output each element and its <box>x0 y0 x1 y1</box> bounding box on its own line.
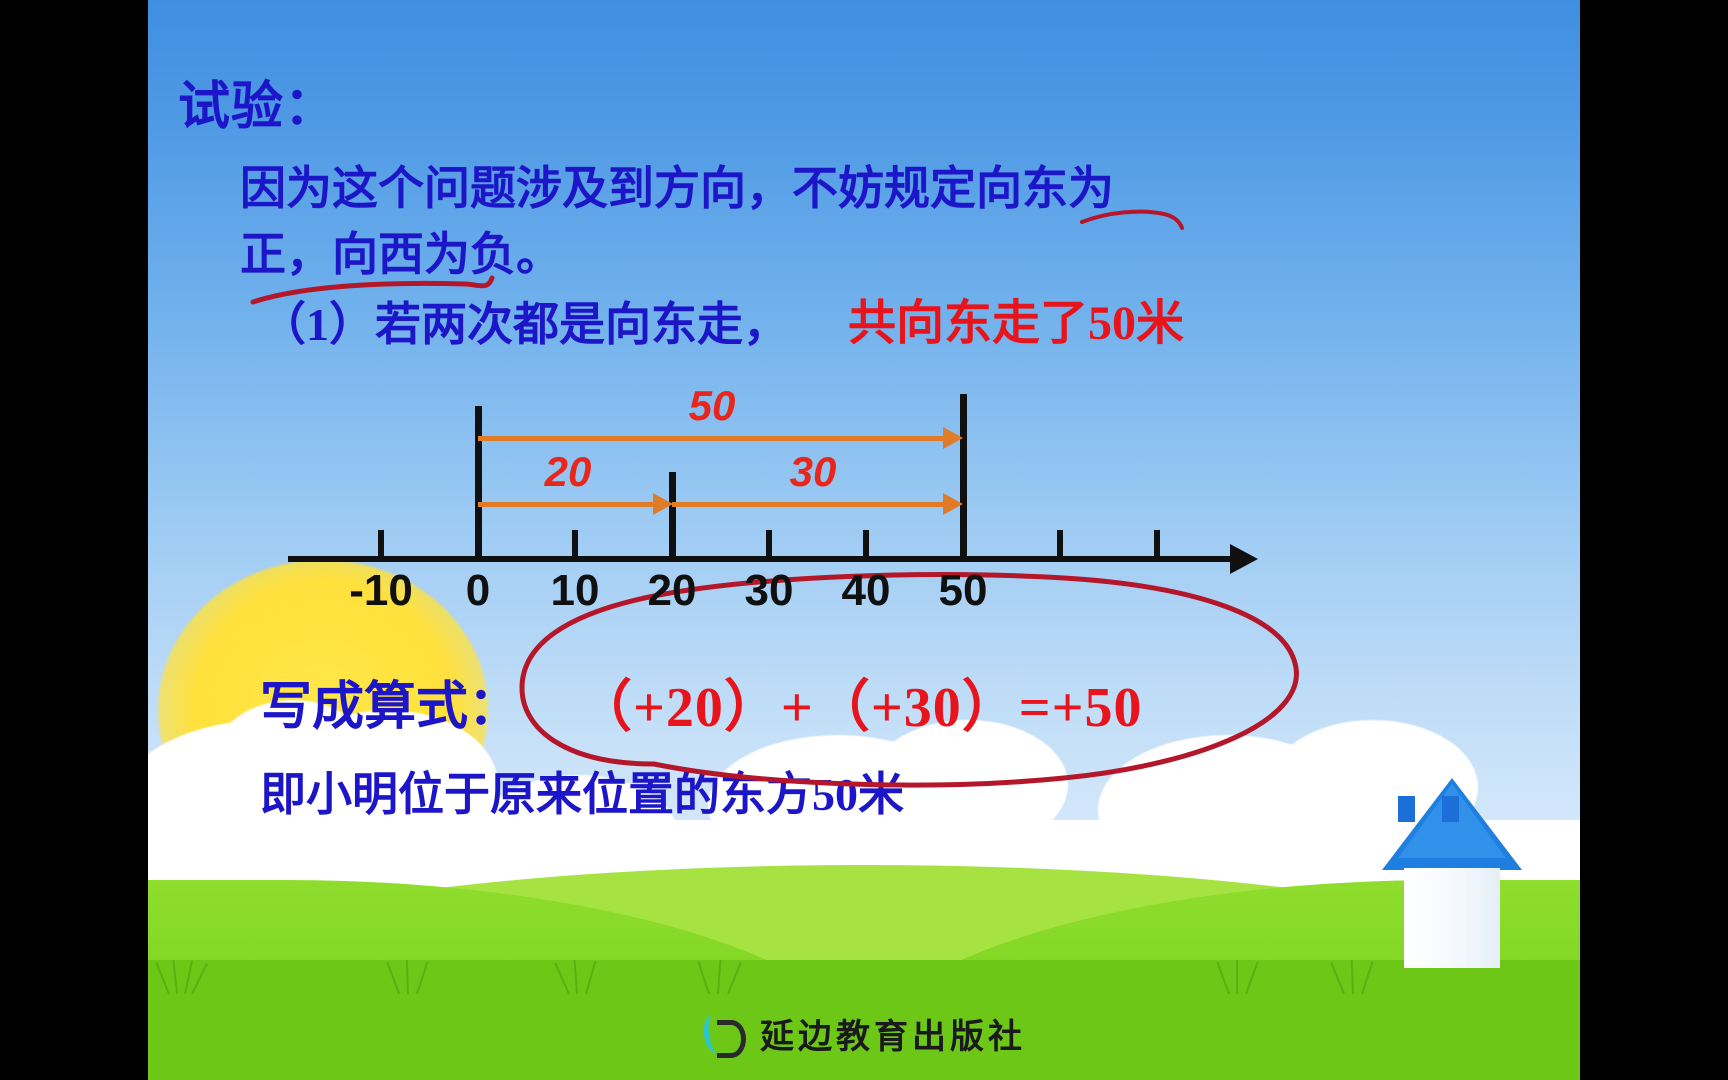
grass-tuft-icon <box>168 960 194 994</box>
grass-tuft-icon <box>708 960 734 994</box>
reason-line-1: 因为这个问题涉及到方向，不妨规定向东为 <box>240 166 1114 212</box>
slide-canvas: 试验： 因为这个问题涉及到方向，不妨规定向东为 正，向西为负。 （1）若两次都是… <box>148 0 1580 1080</box>
grass-tuft-icon <box>1228 960 1254 994</box>
page-title: 试验： <box>178 82 337 134</box>
axis-tick-label: 10 <box>551 566 600 616</box>
house-icon <box>1382 778 1522 968</box>
publisher-name: 延边教育出版社 <box>760 1009 1026 1058</box>
grass-tuft-icon <box>568 960 594 994</box>
axis-tick-label: -10 <box>349 566 413 616</box>
axis-tick-label: 50 <box>939 566 988 616</box>
measure-line-second <box>672 502 946 507</box>
guide-bar-20 <box>669 472 676 558</box>
axis-tick <box>572 530 578 558</box>
measure-arrow-first-icon <box>653 493 673 515</box>
axis-tick <box>766 530 772 558</box>
axis-tick <box>863 530 869 558</box>
measure-label-second: 30 <box>790 448 837 496</box>
measure-label-total: 50 <box>689 382 736 430</box>
number-line-figure: 50 20 30 -10 0 10 20 30 40 50 <box>268 380 1278 595</box>
axis-tick <box>378 530 384 558</box>
axis-tick-label: 30 <box>745 566 794 616</box>
measure-line-first <box>478 502 656 507</box>
axis-tick-label: 0 <box>466 566 490 616</box>
formula-expression: （+20）+（+30）=+50 <box>576 680 1143 736</box>
measure-line-total <box>478 436 946 441</box>
guide-bar-0 <box>475 406 482 558</box>
axis-arrow-icon <box>1230 544 1258 574</box>
grass-tuft-icon <box>1343 960 1369 994</box>
measure-label-first: 20 <box>545 448 592 496</box>
measure-arrow-second-icon <box>943 493 963 515</box>
item-1-statement: （1）若两次都是向东走， <box>260 302 789 348</box>
reason-line-2: 正，向西为负。 <box>240 232 562 278</box>
conclusion-line: 即小明位于原来位置的东方50米 <box>260 772 904 818</box>
formula-label: 写成算式： <box>260 682 520 734</box>
publisher-footer: 延边教育出版社 <box>702 1009 1026 1058</box>
measure-arrow-total-icon <box>943 427 963 449</box>
grass-tuft-icon <box>398 960 424 994</box>
axis-tick-label: 40 <box>842 566 891 616</box>
axis-tick <box>1154 530 1160 558</box>
publisher-logo-icon <box>702 1014 748 1054</box>
slide-root: 试验： 因为这个问题涉及到方向，不妨规定向东为 正，向西为负。 （1）若两次都是… <box>0 0 1728 1080</box>
axis-tick-label: 20 <box>648 566 697 616</box>
axis-tick <box>1057 530 1063 558</box>
guide-bar-50 <box>960 394 967 558</box>
axis-line <box>288 556 1238 562</box>
item-1-answer: 共向东走了50米 <box>848 300 1184 348</box>
